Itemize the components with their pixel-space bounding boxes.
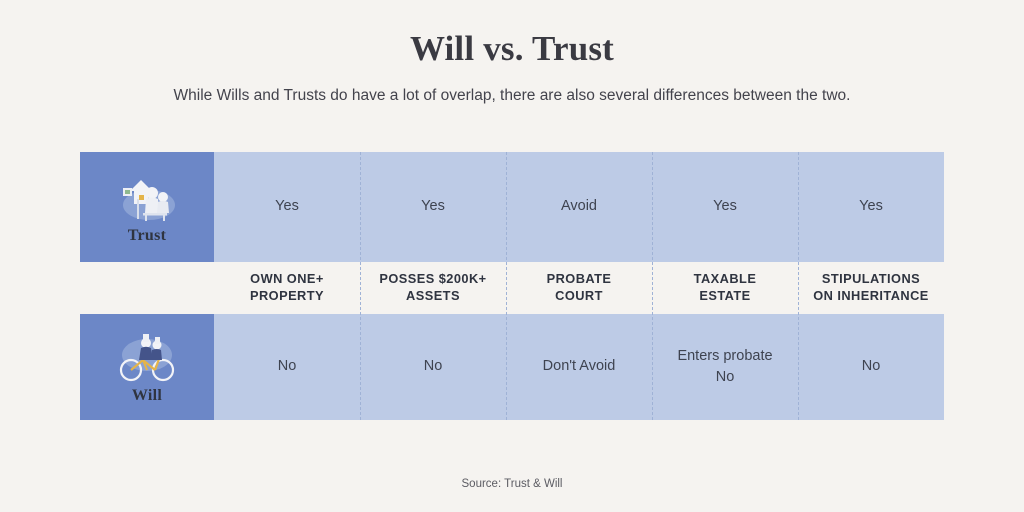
header: Will vs. Trust While Wills and Trusts do… (0, 0, 1024, 106)
column-header-line1: OWN ONE+ (250, 271, 324, 286)
table-cell: Don't Avoid (506, 314, 652, 420)
column-header-text: STIPULATIONS ON INHERITANCE (813, 271, 929, 305)
column-header-line2: COURT (555, 288, 603, 303)
table-cell: Yes (798, 152, 944, 262)
column-labels: OWN ONE+ PROPERTY POSSES $200K+ ASSETS P… (214, 262, 944, 314)
cell-value: Avoid (561, 196, 597, 217)
cell-value: No (424, 356, 443, 377)
table-cell: Yes (214, 152, 360, 262)
column-header-line1: TAXABLE (694, 271, 757, 286)
column-header: POSSES $200K+ ASSETS (360, 262, 506, 314)
table-row-trust: Trust Yes Yes Avoid Yes Yes (80, 152, 944, 262)
cell-value-line1: Enters probate (677, 348, 772, 364)
brand-cell-spacer (80, 262, 214, 314)
column-header-text: POSSES $200K+ ASSETS (379, 271, 486, 305)
brand-cell-trust: Trust (80, 152, 214, 262)
column-header: PROBATE COURT (506, 262, 652, 314)
column-header-line1: PROBATE (547, 271, 612, 286)
cell-value: Don't Avoid (543, 356, 616, 377)
column-header-line2: PROPERTY (250, 288, 324, 303)
bicycle-rider-icon (110, 329, 184, 385)
table-cell: No (214, 314, 360, 420)
table-row-will: Will No No Don't Avoid Enters probate No… (80, 314, 944, 420)
cell-value: Yes (275, 196, 299, 217)
column-header-text: TAXABLE ESTATE (694, 271, 757, 305)
column-header-line2: ESTATE (699, 288, 750, 303)
cell-value: No (278, 356, 297, 377)
cell-value: Enters probate No (677, 346, 772, 388)
page-subtitle: While Wills and Trusts do have a lot of … (0, 86, 1024, 106)
table-cell: Avoid (506, 152, 652, 262)
column-header: TAXABLE ESTATE (652, 262, 798, 314)
table-cell: No (798, 314, 944, 420)
column-header: OWN ONE+ PROPERTY (214, 262, 360, 314)
column-header-text: PROBATE COURT (547, 271, 612, 305)
brand-label-trust: Trust (128, 227, 167, 245)
table-cell: Yes (652, 152, 798, 262)
page-title: Will vs. Trust (0, 28, 1024, 70)
cell-value: Yes (421, 196, 445, 217)
brand-cell-will: Will (80, 314, 214, 420)
table-row-labels: OWN ONE+ PROPERTY POSSES $200K+ ASSETS P… (80, 262, 944, 314)
cell-value: Yes (859, 196, 883, 217)
source-note: Source: Trust & Will (0, 478, 1024, 490)
column-header-line1: POSSES $200K+ (379, 271, 486, 286)
brand-label-will: Will (132, 387, 162, 405)
column-header-line2: ON INHERITANCE (813, 288, 929, 303)
column-header: STIPULATIONS ON INHERITANCE (798, 262, 944, 314)
comparison-table: Trust Yes Yes Avoid Yes Yes OWN ONE+ PRO… (80, 152, 944, 420)
table-cell: Yes (360, 152, 506, 262)
will-values: No No Don't Avoid Enters probate No No (214, 314, 944, 420)
table-cell: Enters probate No (652, 314, 798, 420)
trust-values: Yes Yes Avoid Yes Yes (214, 152, 944, 262)
column-header-line1: STIPULATIONS (822, 271, 920, 286)
cell-value-line2: No (716, 369, 735, 385)
house-family-icon (110, 169, 184, 225)
column-header-line2: ASSETS (406, 288, 460, 303)
column-header-text: OWN ONE+ PROPERTY (250, 271, 324, 305)
cell-value: Yes (713, 196, 737, 217)
table-cell: No (360, 314, 506, 420)
cell-value: No (862, 356, 881, 377)
